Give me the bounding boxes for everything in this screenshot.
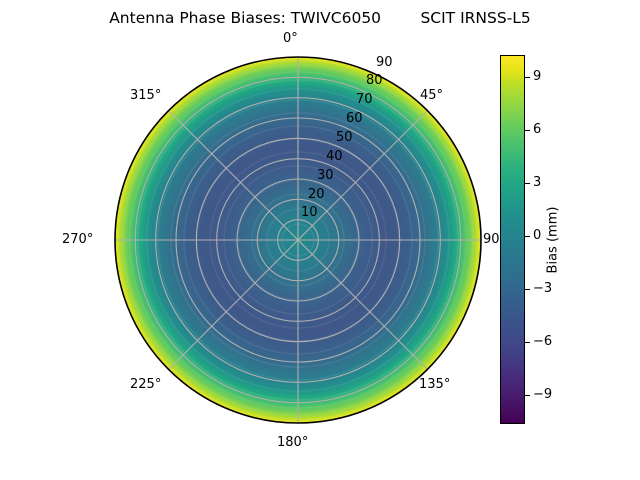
polar-plot-surface [115, 57, 481, 423]
radial-tick-20: 20 [308, 187, 325, 202]
colorbar-tick-m9 [525, 395, 530, 396]
colorbar-tick-3 [525, 183, 530, 184]
radial-tick-30: 30 [317, 168, 334, 183]
chart-title: Antenna Phase Biases: TWIVC6050 SCIT IRN… [0, 8, 640, 28]
colorbar-tick-0 [525, 236, 530, 237]
radial-tick-50: 50 [336, 130, 353, 145]
polar-axes: 10 20 30 40 50 60 70 80 90 [115, 57, 481, 423]
radial-tick-90: 90 [376, 55, 393, 70]
radial-tick-40: 40 [326, 149, 343, 164]
colorbar-ticklabel-6: 6 [533, 122, 541, 137]
angular-tick-135: 135° [419, 377, 450, 392]
colorbar-ticklabel-m6: −6 [533, 334, 552, 349]
angular-tick-0: 0° [283, 31, 298, 46]
angular-tick-45: 45° [420, 88, 443, 103]
colorbar: 9 6 3 0 −3 −6 −9 [500, 55, 525, 424]
angular-tick-225: 225° [130, 377, 161, 392]
colorbar-tick-9 [525, 77, 530, 78]
colorbar-tick-m3 [525, 289, 530, 290]
colorbar-ticklabel-3: 3 [533, 175, 541, 190]
colorbar-ticklabel-9: 9 [533, 69, 541, 84]
radial-tick-60: 60 [346, 111, 363, 126]
radial-tick-10: 10 [301, 205, 318, 220]
colorbar-ticklabel-0: 0 [533, 228, 541, 243]
figure-canvas: Antenna Phase Biases: TWIVC6050 SCIT IRN… [0, 0, 640, 480]
angular-tick-270: 270° [62, 232, 93, 247]
colorbar-axis-label: Bias (mm) [546, 207, 561, 274]
colorbar-ticklabel-m3: −3 [533, 281, 552, 296]
colorbar-tick-m6 [525, 342, 530, 343]
radial-tick-80: 80 [366, 73, 383, 88]
radial-tick-70: 70 [356, 92, 373, 107]
angular-tick-180: 180° [277, 435, 308, 450]
colorbar-gradient [500, 55, 525, 424]
angular-tick-315: 315° [130, 88, 161, 103]
polar-grid-spokes [115, 57, 481, 423]
colorbar-ticklabel-m9: −9 [533, 387, 552, 402]
colorbar-tick-6 [525, 130, 530, 131]
